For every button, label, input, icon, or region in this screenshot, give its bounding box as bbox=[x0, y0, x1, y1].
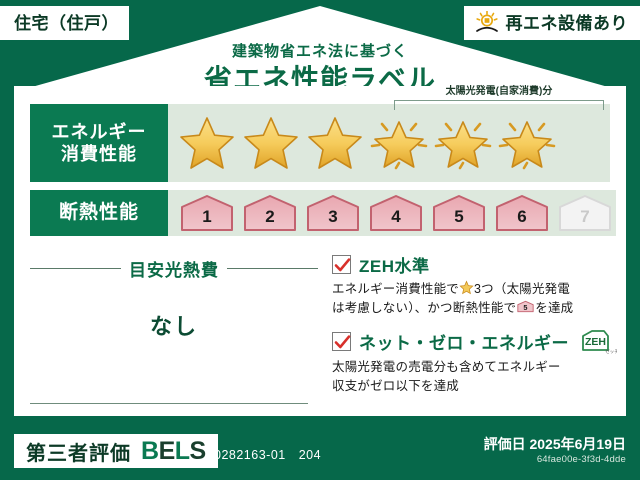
house-icon-level-6: 6 bbox=[491, 193, 553, 233]
evaluation-hash: 64fae00e-3f3d-4dde bbox=[537, 454, 626, 465]
svg-text:5: 5 bbox=[524, 303, 528, 312]
house-icon-level-3: 3 bbox=[302, 193, 364, 233]
energy-label-line1: エネルギー bbox=[52, 121, 147, 144]
zeh-desc-part-4: を達成 bbox=[535, 301, 573, 315]
zeh-standard-description: エネルギー消費性能で3つ（太陽光発電 は考慮しない）、かつ断熱性能で5を達成 bbox=[332, 280, 617, 319]
star-icon-solar bbox=[368, 112, 430, 174]
net-zero-energy-item: ネット・ゼロ・エネルギー ZEH ゼッチ 太陽光発電の売電分も含めてエネルギー … bbox=[332, 329, 617, 397]
zeh-desc-part-1: エネルギー消費性能で bbox=[332, 282, 459, 296]
insulation-level-area: 1 2 3 4 5 bbox=[168, 190, 616, 236]
house-icon-level-4: 4 bbox=[365, 193, 427, 233]
insulation-performance-row: 断熱性能 1 2 3 bbox=[30, 190, 610, 236]
insulation-level-number: 4 bbox=[365, 207, 427, 227]
checkbox-checked-icon[interactable] bbox=[332, 332, 351, 351]
house-icon-level-7-inactive: 7 bbox=[554, 193, 616, 233]
insulation-level-number: 5 bbox=[428, 207, 490, 227]
svg-text:ZEH: ZEH bbox=[585, 336, 606, 348]
utility-cost-value: なし bbox=[30, 309, 318, 341]
nze-desc-part-1: 太陽光発電の売電分も含めてエネルギー bbox=[332, 360, 561, 374]
third-party-evaluation-label: 第三者評価 bbox=[26, 437, 131, 466]
zeh-desc-part-2: 3つ（太陽光発電 bbox=[474, 282, 570, 296]
building-type-label: 住宅（住戸） bbox=[14, 15, 119, 32]
performance-rows: エネルギー 消費性能 太陽光発電(自家消費)分 bbox=[30, 104, 610, 244]
utility-cost-block: 目安光熱費 なし bbox=[30, 252, 318, 404]
net-zero-energy-title: ネット・ゼロ・エネルギー bbox=[359, 329, 569, 354]
insulation-level-scale: 1 2 3 4 5 bbox=[168, 193, 616, 233]
insulation-level-number: 3 bbox=[302, 207, 364, 227]
house-icon-level-5: 5 bbox=[428, 193, 490, 233]
certificate-number: 0282163-01 204 bbox=[214, 444, 321, 463]
insulation-level-number: 7 bbox=[554, 207, 616, 227]
rule-right bbox=[227, 268, 318, 269]
nze-desc-part-2: 収支がゼロ以下を達成 bbox=[332, 379, 459, 393]
energy-star-area: 太陽光発電(自家消費)分 bbox=[168, 104, 610, 182]
insulation-level-badge-inline: 5 bbox=[516, 299, 535, 313]
insulation-performance-label: 断熱性能 bbox=[30, 190, 168, 236]
utility-cost-header: 目安光熱費 bbox=[30, 256, 318, 281]
bels-energy-label: 住宅（住戸） 再エネ設備あり 建築物省エネ法に基づく 省エネ性能ラベル bbox=[0, 0, 640, 480]
svg-text:ゼッチ: ゼッチ bbox=[605, 348, 617, 354]
solar-bracket bbox=[394, 100, 604, 110]
star-rating bbox=[168, 112, 558, 174]
energy-label-line2: 消費性能 bbox=[61, 143, 137, 166]
star-icon-inline bbox=[459, 280, 474, 295]
star-icon-solar bbox=[432, 112, 494, 174]
star-icon-solar bbox=[496, 112, 558, 174]
energy-performance-label: エネルギー 消費性能 bbox=[30, 104, 168, 182]
utility-cost-title: 目安光熱費 bbox=[129, 256, 219, 281]
insulation-level-number: 1 bbox=[176, 207, 238, 227]
bels-letter-l: L bbox=[175, 437, 190, 465]
insulation-label-text: 断熱性能 bbox=[59, 201, 139, 225]
renewable-equipment-badge: 再エネ設備あり bbox=[464, 6, 640, 40]
net-zero-energy-header: ネット・ゼロ・エネルギー ZEH ゼッチ bbox=[332, 329, 617, 355]
energy-performance-row: エネルギー 消費性能 太陽光発電(自家消費)分 bbox=[30, 104, 610, 182]
renewable-equipment-label: 再エネ設備あり bbox=[506, 15, 629, 32]
house-icon-level-1: 1 bbox=[176, 193, 238, 233]
star-icon bbox=[304, 112, 366, 174]
star-icon bbox=[240, 112, 302, 174]
insulation-level-number: 6 bbox=[491, 207, 553, 227]
sun-solar-icon bbox=[474, 11, 500, 35]
lower-section: 目安光熱費 なし ZEH水準 エネルギー消費性能で3つ（太陽光発電 bbox=[30, 252, 610, 407]
bels-certification-badge: 第三者評価 BELS bbox=[14, 434, 218, 468]
evaluation-date: 評価日 2025年6月19日 bbox=[484, 434, 626, 454]
utility-cost-bottom-rule bbox=[30, 403, 308, 404]
zeh-house-logo-icon: ZEH ゼッチ bbox=[577, 329, 617, 355]
footer-bar: 第三者評価 BELS 0282163-01 204 評価日 2025年6月19日… bbox=[0, 426, 640, 480]
zeh-criteria-block: ZEH水準 エネルギー消費性能で3つ（太陽光発電 は考慮しない）、かつ断熱性能で… bbox=[318, 252, 617, 407]
zeh-desc-part-3: は考慮しない）、かつ断熱性能で bbox=[332, 301, 516, 315]
zeh-standard-header: ZEH水準 bbox=[332, 252, 617, 277]
bels-letter-s: S bbox=[190, 437, 206, 465]
rule-left bbox=[30, 268, 121, 269]
zeh-standard-title: ZEH水準 bbox=[359, 252, 430, 277]
bels-letter-e: E bbox=[159, 437, 175, 465]
bels-wordmark: BELS bbox=[141, 439, 206, 464]
star-icon bbox=[176, 112, 238, 174]
checkbox-checked-icon[interactable] bbox=[332, 255, 351, 274]
solar-annotation-text: 太陽光発電(自家消費)分 bbox=[392, 82, 606, 97]
insulation-level-number: 2 bbox=[239, 207, 301, 227]
zeh-standard-item: ZEH水準 エネルギー消費性能で3つ（太陽光発電 は考慮しない）、かつ断熱性能で… bbox=[332, 252, 617, 319]
bels-letter-b: B bbox=[141, 437, 159, 465]
building-type-badge: 住宅（住戸） bbox=[0, 6, 129, 40]
house-icon-level-2: 2 bbox=[239, 193, 301, 233]
net-zero-energy-description: 太陽光発電の売電分も含めてエネルギー 収支がゼロ以下を達成 bbox=[332, 358, 617, 397]
